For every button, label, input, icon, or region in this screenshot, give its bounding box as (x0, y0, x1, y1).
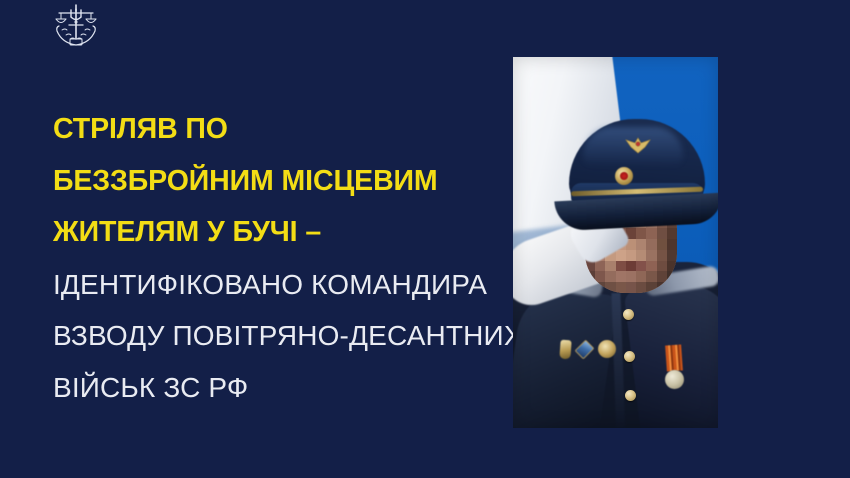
cap-cockade (615, 167, 633, 185)
prosecutor-general-emblem (50, 1, 102, 49)
medal-ribbon (665, 344, 683, 371)
medal-disc (665, 370, 684, 389)
headline-line-6: ВІЙСЬК ЗС РФ (53, 362, 493, 414)
suspect-photo (513, 57, 718, 428)
headline-line-4: ІДЕНТИФІКОВАНО КОМАНДИРА (53, 259, 493, 311)
chest-badge-round (598, 340, 616, 358)
photo-content (513, 57, 718, 428)
chest-badge (559, 340, 571, 360)
headline: СТРІЛЯВ ПО БЕЗЗБРОЙНИМ МІСЦЕВИМ ЖИТЕЛЯМ … (53, 104, 493, 413)
uniform-button (624, 351, 635, 362)
uniform-button (625, 390, 636, 401)
headline-line-5: ВЗВОДУ ПОВІТРЯНО-ДЕСАНТНИХ (53, 310, 493, 362)
headline-line-3: ЖИТЕЛЯМ У БУЧІ – (53, 207, 493, 259)
news-banner: СТРІЛЯВ ПО БЕЗЗБРОЙНИМ МІСЦЕВИМ ЖИТЕЛЯМ … (0, 0, 850, 478)
headline-line-1: СТРІЛЯВ ПО (53, 104, 493, 156)
headline-line-2: БЕЗЗБРОЙНИМ МІСЦЕВИМ (53, 156, 493, 208)
cap-eagle-emblem (623, 135, 653, 155)
uniform-button (623, 309, 634, 320)
